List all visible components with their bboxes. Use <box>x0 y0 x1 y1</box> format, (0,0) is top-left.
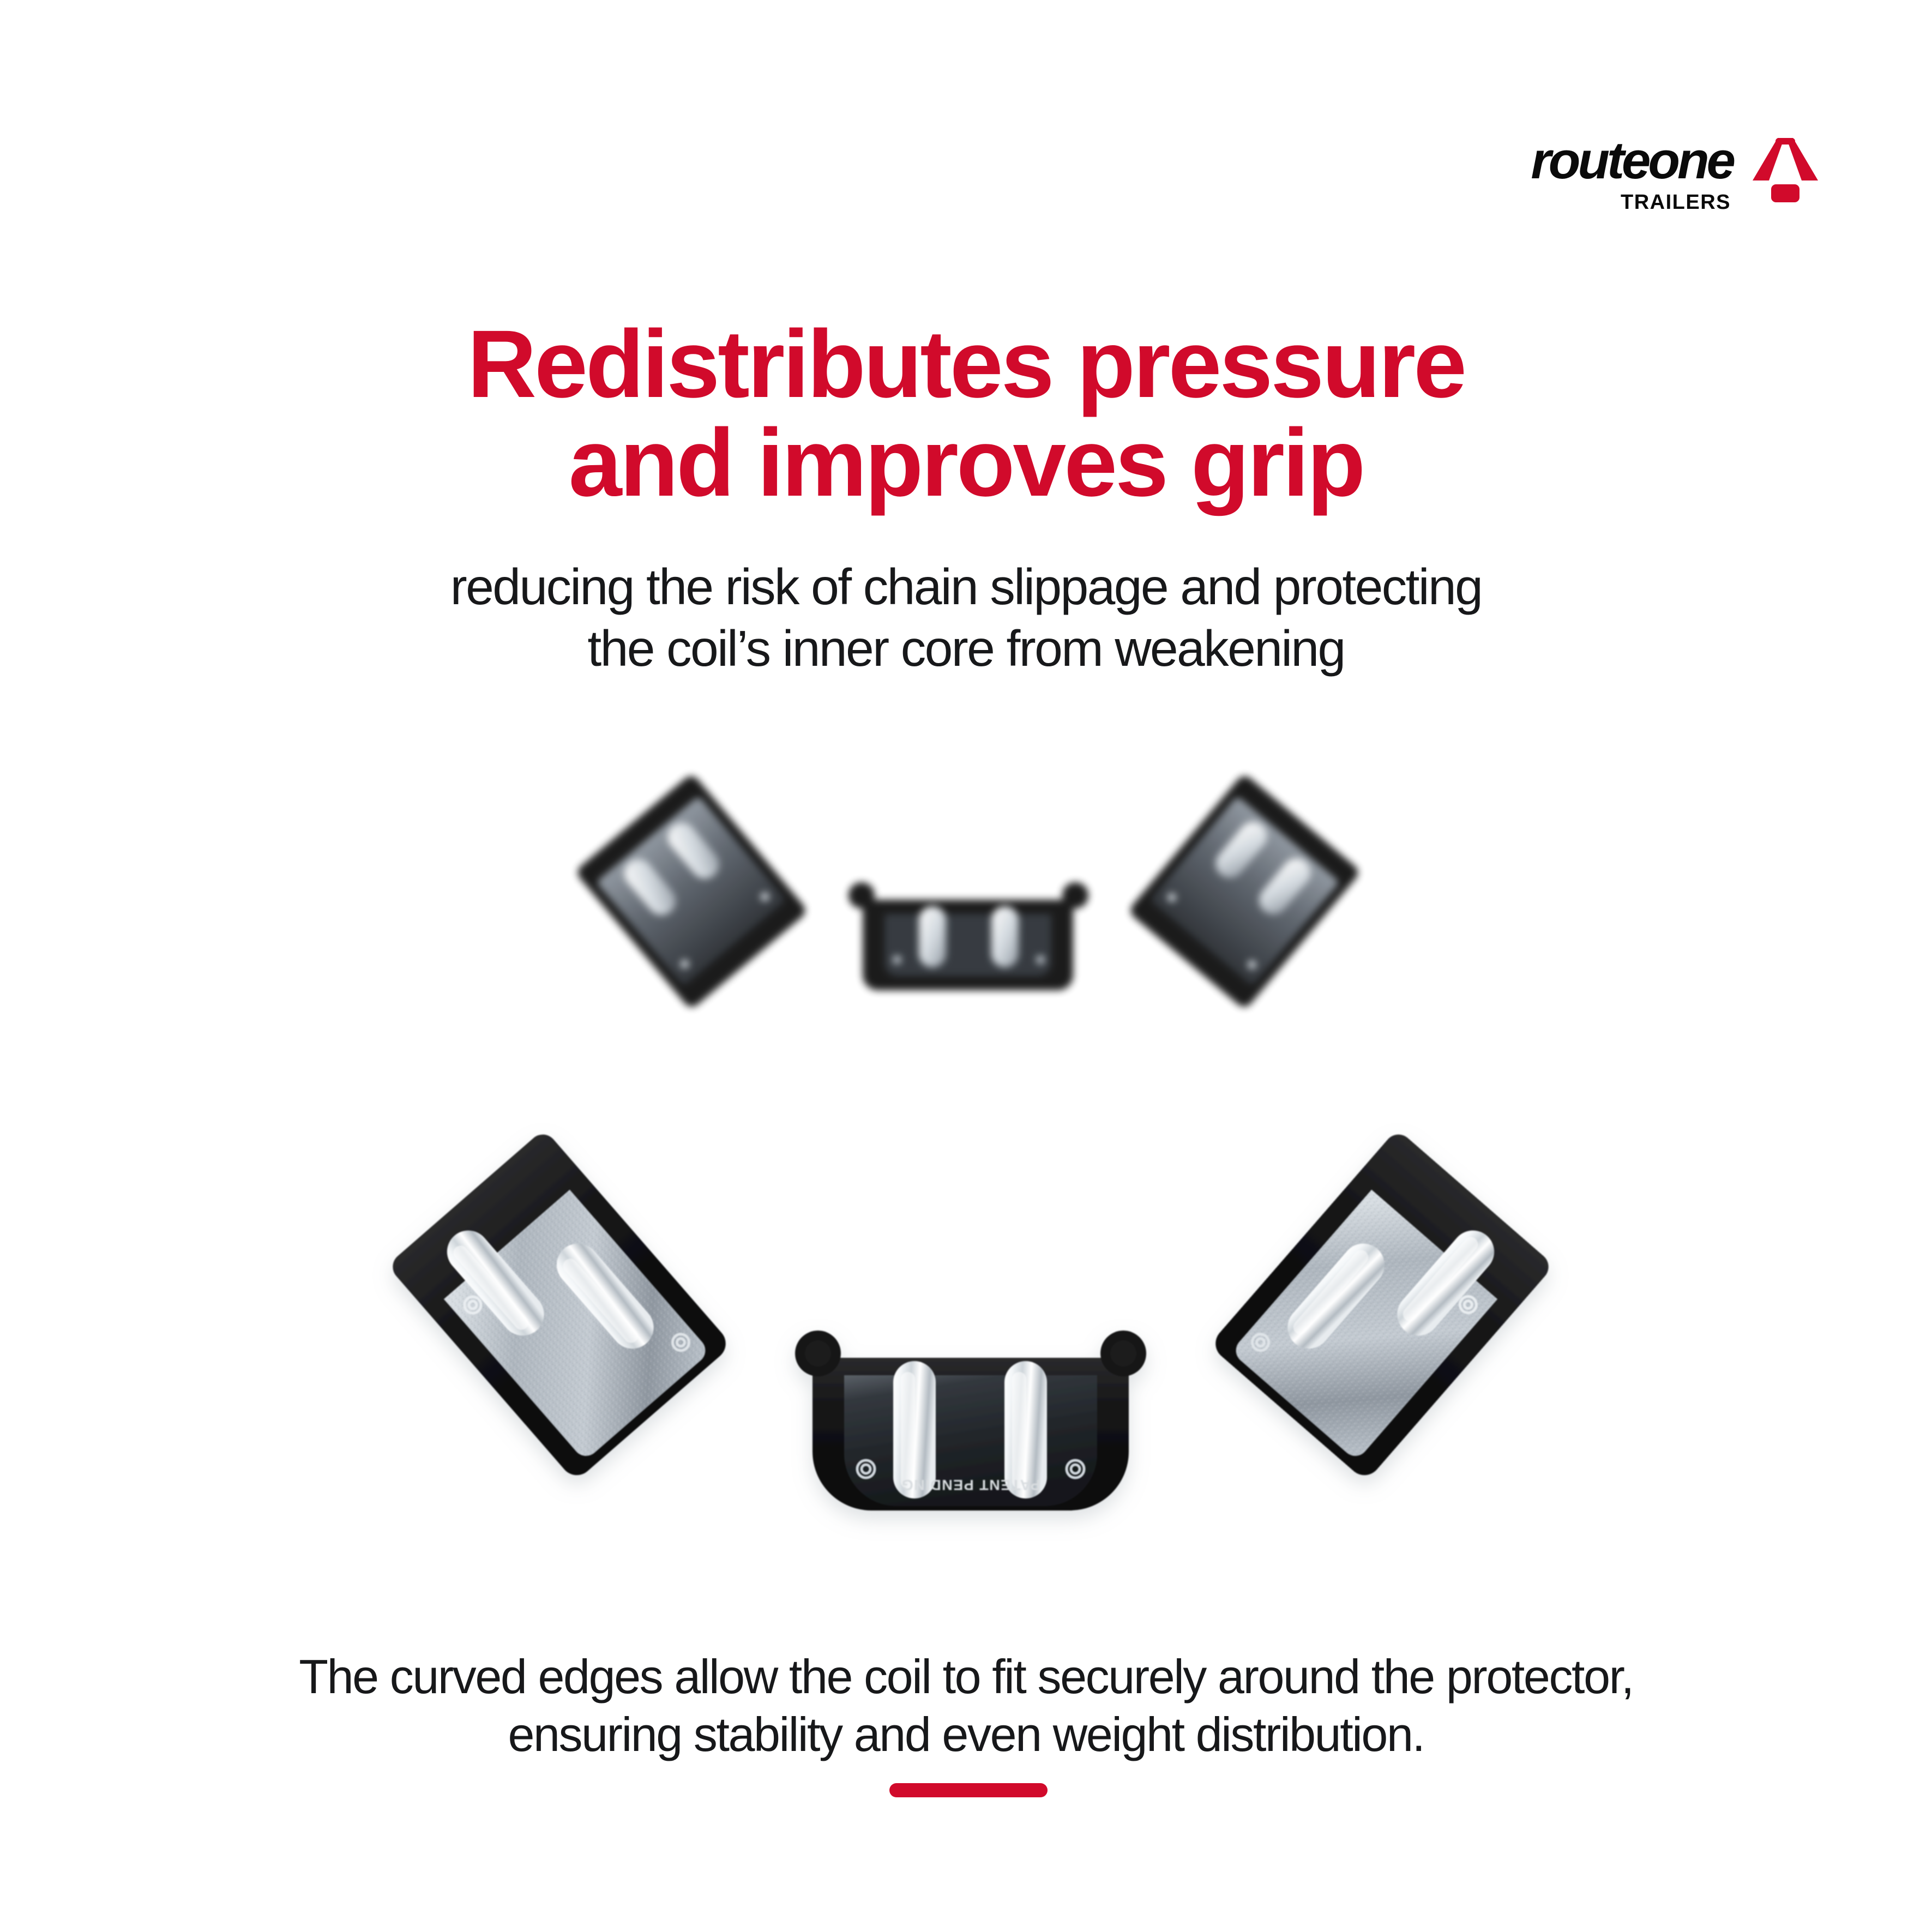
accent-divider-bar <box>889 1783 1048 1797</box>
headline-line-1: Redistributes pressure <box>0 315 1932 414</box>
brand-logo: routeone TRAILERS <box>1440 134 1821 216</box>
page-subtitle: reducing the risk of chain slippage and … <box>0 556 1932 680</box>
patent-pending-stamp: PATENT PENDING <box>901 1477 1040 1493</box>
product-photo-main: PATENT PENDING <box>327 1096 1614 1549</box>
caption-line-2: ensuring stability and even weight distr… <box>0 1706 1932 1764</box>
routeone-a-mark-icon <box>1749 134 1821 206</box>
subhead-line-1: reducing the risk of chain slippage and … <box>0 556 1932 618</box>
product-photo-background <box>567 763 1369 1047</box>
brand-subtitle: TRAILERS <box>1621 191 1731 214</box>
brand-wordmark: routeone <box>1531 136 1733 185</box>
poster-canvas: routeone TRAILERS Redistributes pressure… <box>0 0 1932 1932</box>
brand-logo-text: routeone TRAILERS <box>1531 134 1733 214</box>
subhead-line-2: the coil’s inner core from weakening <box>0 618 1932 679</box>
page-title: Redistributes pressure and improves grip <box>0 315 1932 513</box>
product-caption: The curved edges allow the coil to fit s… <box>0 1648 1932 1763</box>
caption-line-1: The curved edges allow the coil to fit s… <box>0 1648 1932 1706</box>
headline-line-2: and improves grip <box>0 414 1932 513</box>
